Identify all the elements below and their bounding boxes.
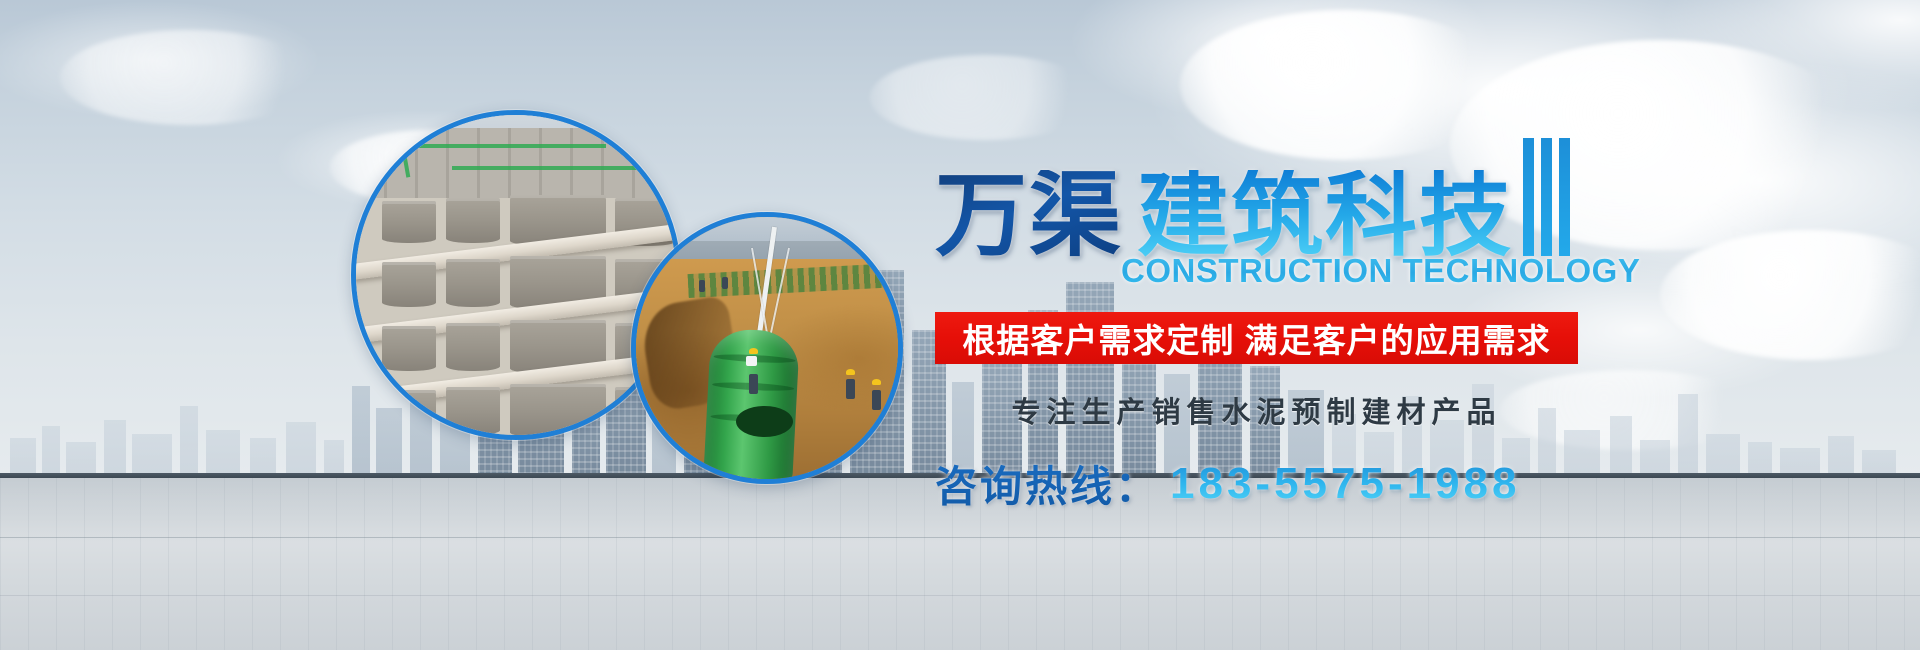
photo-precast-concrete-stacks <box>351 110 681 440</box>
red-highlight-banner: 根据客户需求定制 满足客户的应用需求 <box>935 312 1578 364</box>
photo-septic-tank-installation <box>631 212 903 484</box>
ground-seam <box>0 595 1920 596</box>
ground-seam <box>0 537 1920 538</box>
company-slogan: 专注生产销售水泥预制建材产品 <box>935 389 1578 431</box>
english-subtitle-row: CONSTRUCTION TECHNOLOGY <box>1121 252 1635 290</box>
cloud-icon <box>870 55 1100 140</box>
brand-name-primary: 万渠 <box>935 170 1123 262</box>
brand-english-subtitle: CONSTRUCTION TECHNOLOGY <box>1121 252 1640 290</box>
hotline-number[interactable]: 183-5575-1988 <box>1170 459 1520 509</box>
promotional-banner: 万渠 建筑科技 CONSTRUCTION TECHNOLOGY 根据客户需求定制… <box>0 0 1920 650</box>
hotline-row: 咨询热线： 183-5575-1988 <box>935 453 1635 514</box>
text-content-block: 万渠 建筑科技 CONSTRUCTION TECHNOLOGY 根据客户需求定制… <box>935 138 1635 514</box>
brand-title-row: 万渠 建筑科技 <box>935 138 1635 262</box>
cloud-icon <box>60 30 320 125</box>
red-banner-text: 根据客户需求定制 满足客户的应用需求 <box>962 314 1550 362</box>
brand-name-secondary: 建筑科技 <box>1137 170 1513 262</box>
hotline-label: 咨询热线： <box>935 453 1160 514</box>
vertical-bars-decor-icon <box>1523 138 1570 262</box>
